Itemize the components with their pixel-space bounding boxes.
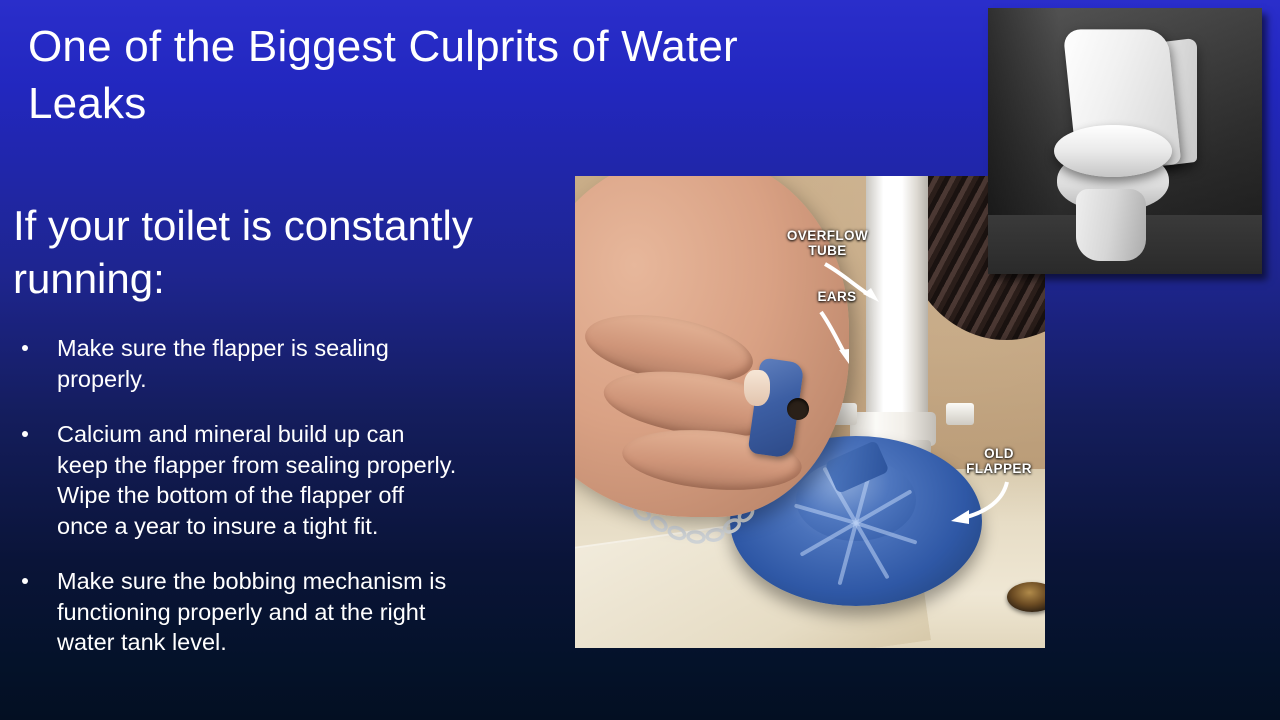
floor bbox=[988, 215, 1262, 274]
callout-ears: EARS bbox=[801, 289, 873, 304]
tank-wall bbox=[575, 176, 1045, 488]
bullet-list: Make sure the flapper is sealing properl… bbox=[13, 333, 573, 658]
toilet-base bbox=[1076, 189, 1146, 261]
bullet-dot-icon bbox=[22, 578, 28, 584]
toilet-lid bbox=[1063, 30, 1182, 165]
finger bbox=[600, 362, 792, 447]
toilet-bowl bbox=[1057, 149, 1169, 211]
list-item-text: Make sure the flapper is sealing properl… bbox=[57, 333, 573, 394]
overflow-tube-collar bbox=[850, 412, 936, 446]
flapper-rib bbox=[855, 521, 917, 545]
brass-grommet bbox=[664, 469, 714, 499]
tank-floor bbox=[575, 469, 1045, 648]
held-flapper-ear-hole bbox=[785, 396, 810, 421]
flapper-photo: OVERFLOW TUBE EARS OLD FLAPPER bbox=[575, 176, 1045, 648]
callout-arrow-icon bbox=[815, 308, 865, 372]
callout-arrow-icon bbox=[937, 476, 1015, 532]
tank-floor-pan bbox=[575, 500, 931, 648]
list-item-text: Make sure the bobbing mechanism is funct… bbox=[57, 566, 573, 658]
flapper-ear-left bbox=[829, 403, 857, 425]
flapper-stem bbox=[824, 440, 889, 494]
callout-arrow-icon bbox=[821, 260, 893, 312]
callout-old-flapper: OLD FLAPPER bbox=[953, 446, 1045, 476]
flapper-ear-right bbox=[946, 403, 974, 425]
finger bbox=[620, 423, 804, 496]
subheading: If your toilet is constantly running: bbox=[13, 200, 553, 306]
bullet-dot-icon bbox=[22, 431, 28, 437]
flapper-rib bbox=[854, 522, 889, 579]
flapper-rib bbox=[800, 521, 857, 556]
brass-grommet bbox=[1007, 582, 1045, 612]
toilet-photo bbox=[988, 8, 1262, 274]
room-corner bbox=[988, 8, 1262, 274]
flapper-rib bbox=[838, 522, 858, 585]
flapper-rib bbox=[794, 503, 857, 524]
rubber-seal-ring bbox=[740, 502, 984, 622]
list-item: Make sure the flapper is sealing properl… bbox=[13, 333, 573, 394]
flapper-rib bbox=[822, 466, 857, 523]
thumbnail bbox=[744, 370, 770, 406]
flapper-rib bbox=[855, 489, 912, 524]
page-title: One of the Biggest Culprits of Water Lea… bbox=[28, 18, 888, 132]
blue-flapper bbox=[730, 436, 982, 606]
list-item: Make sure the bobbing mechanism is funct… bbox=[13, 566, 573, 658]
toilet-seat bbox=[1054, 125, 1172, 177]
list-item: Calcium and mineral build up can keep th… bbox=[13, 419, 573, 541]
list-item-text: Calcium and mineral build up can keep th… bbox=[57, 419, 573, 541]
slide-canvas: One of the Biggest Culprits of Water Lea… bbox=[0, 0, 1280, 720]
flapper-dome bbox=[796, 459, 916, 541]
held-flapper-ear bbox=[747, 357, 804, 458]
callout-overflow-tube: OVERFLOW TUBE bbox=[775, 228, 880, 258]
flush-button bbox=[1136, 40, 1156, 46]
bullet-dot-icon bbox=[22, 345, 28, 351]
flapper-rib bbox=[854, 460, 874, 523]
toilet-tank bbox=[1111, 37, 1197, 172]
flapper-chain-icon bbox=[584, 469, 774, 579]
overflow-tube-shape bbox=[866, 176, 928, 431]
finger bbox=[580, 303, 758, 394]
overflow-tube-base bbox=[857, 440, 931, 486]
